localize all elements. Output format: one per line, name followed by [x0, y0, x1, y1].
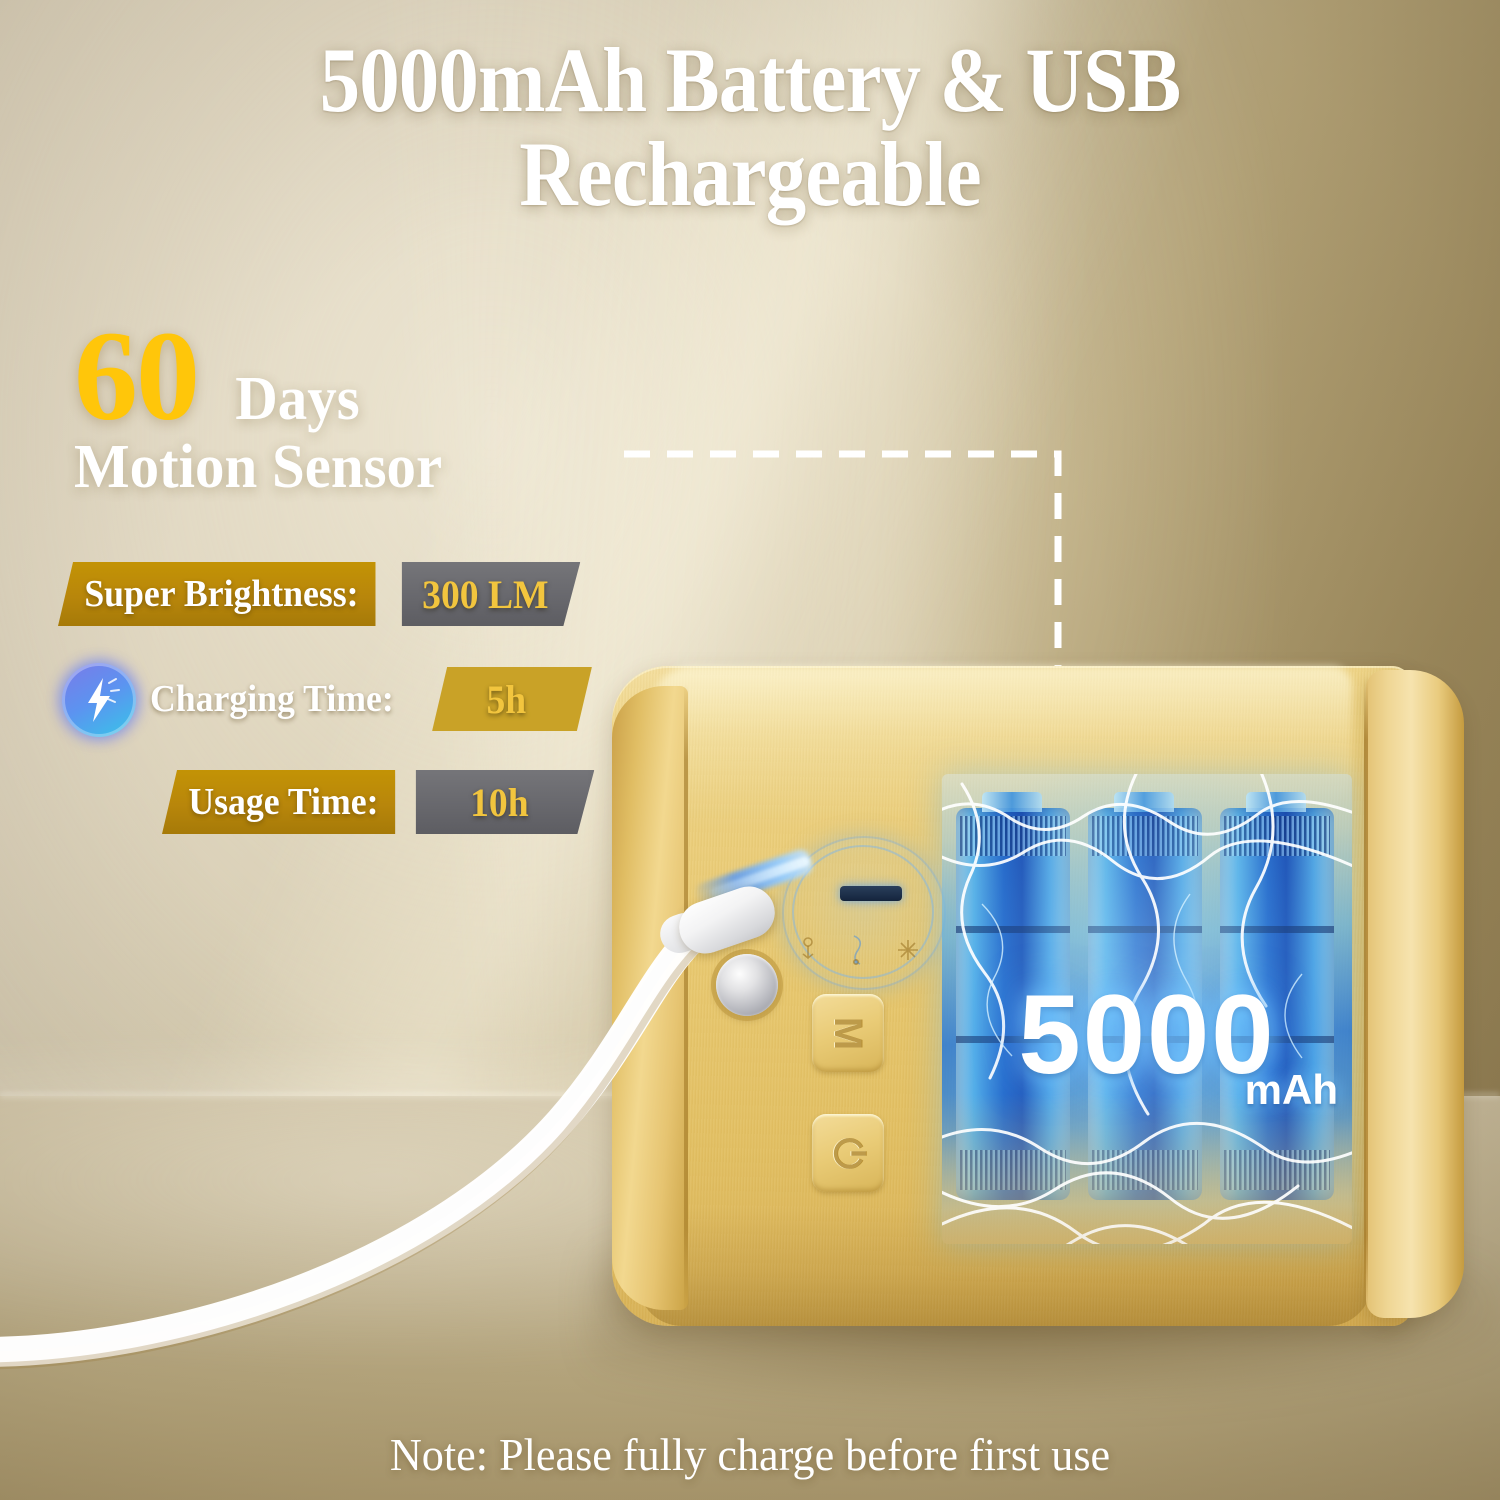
spec-value-brightness: 300 LM — [401, 562, 580, 626]
usb-plug-body — [672, 879, 782, 960]
headline-line-1: 5000mAh Battery & USB — [320, 29, 1181, 131]
device-left-face — [612, 686, 688, 1310]
power-button[interactable]: ⏻ — [812, 1114, 884, 1192]
lightning-bolt-icon — [62, 663, 136, 737]
page-title: 5000mAh Battery & USB Rechargeable — [90, 34, 1410, 222]
metallic-round-button[interactable] — [716, 954, 778, 1016]
usb-port-markings — [790, 928, 940, 972]
spec-value-usage: 10h — [416, 770, 595, 834]
power-button-label: ⏻ — [825, 1137, 870, 1169]
spec-badge-usage: Usage Time: 10h — [162, 770, 600, 834]
spec-value-charging: 5h — [432, 667, 592, 731]
mode-button[interactable]: M — [812, 994, 884, 1072]
feature-number: 60 — [74, 312, 198, 440]
footer-note: Note: Please fully charge before first u… — [30, 1428, 1470, 1481]
lightning-bolt-glyph — [62, 663, 136, 737]
product-device: M ⏻ — [612, 660, 1464, 1343]
mode-button-label: M — [825, 1016, 870, 1049]
feature-unit: Days — [235, 364, 359, 435]
device-left-seam — [684, 684, 688, 1316]
headline-line-2: Rechargeable — [90, 128, 1410, 222]
feature-subtitle: Motion Sensor — [74, 432, 606, 503]
spec-label-brightness: Super Brightness: — [58, 562, 375, 626]
spec-label-charging: Charging Time: — [150, 667, 411, 731]
device-right-seam — [1364, 676, 1368, 1312]
usb-port-slot — [840, 886, 902, 901]
spec-badge-brightness: Super Brightness: 300 LM — [58, 562, 586, 626]
product-marketing-image: 5000mAh Battery & USB Rechargeable 60 Da… — [0, 0, 1500, 1500]
spec-label-usage: Usage Time: — [162, 770, 395, 834]
device-right-endcap — [1366, 670, 1464, 1318]
device-body: M ⏻ — [612, 666, 1412, 1326]
spec-badge-charging: Charging Time: 5h — [150, 667, 597, 731]
feature-highlight: 60 Days Motion Sensor — [74, 312, 634, 503]
battery-graphic-panel: 5000 mAh — [942, 774, 1352, 1244]
usb-cable-plug — [660, 890, 778, 956]
device-bottom-shading — [638, 1206, 1372, 1326]
feature-duration-row: 60 Days — [74, 312, 634, 430]
